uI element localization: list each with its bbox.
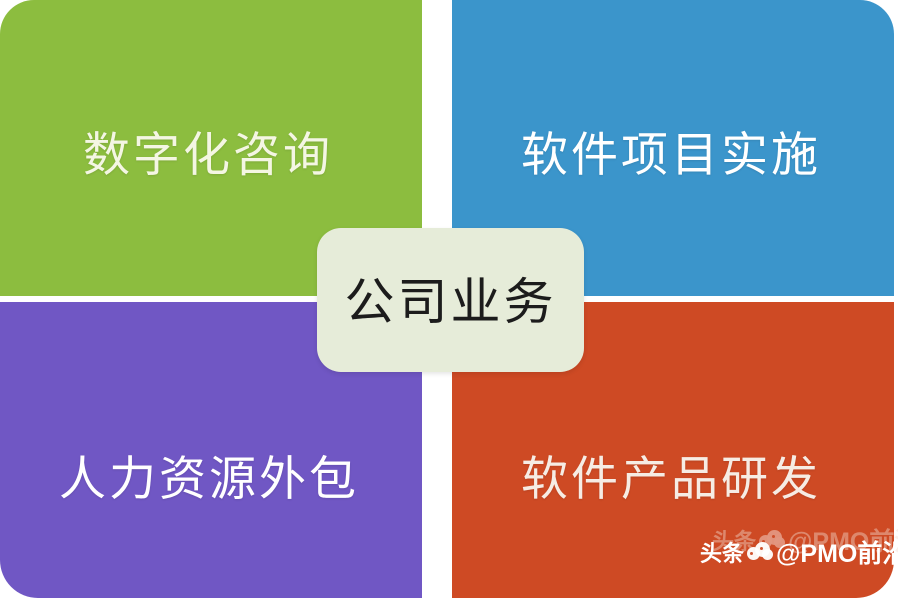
quadrant-label-software-project-implementation: 软件项目实施 [521, 131, 821, 178]
quadrant-label-digital-consulting: 数字化咨询 [83, 131, 333, 178]
diagram-canvas: 数字化咨询 软件项目实施 人力资源外包 软件产品研发 公司业务 头条 @PMO前… [0, 0, 898, 598]
quadrant-label-software-product-rnd: 软件产品研发 [521, 455, 821, 502]
center-hub-label: 公司业务 [345, 277, 557, 327]
center-hub-company-business[interactable]: 公司业务 [317, 228, 584, 372]
quadrant-label-hr-outsourcing: 人力资源外包 [59, 455, 359, 502]
